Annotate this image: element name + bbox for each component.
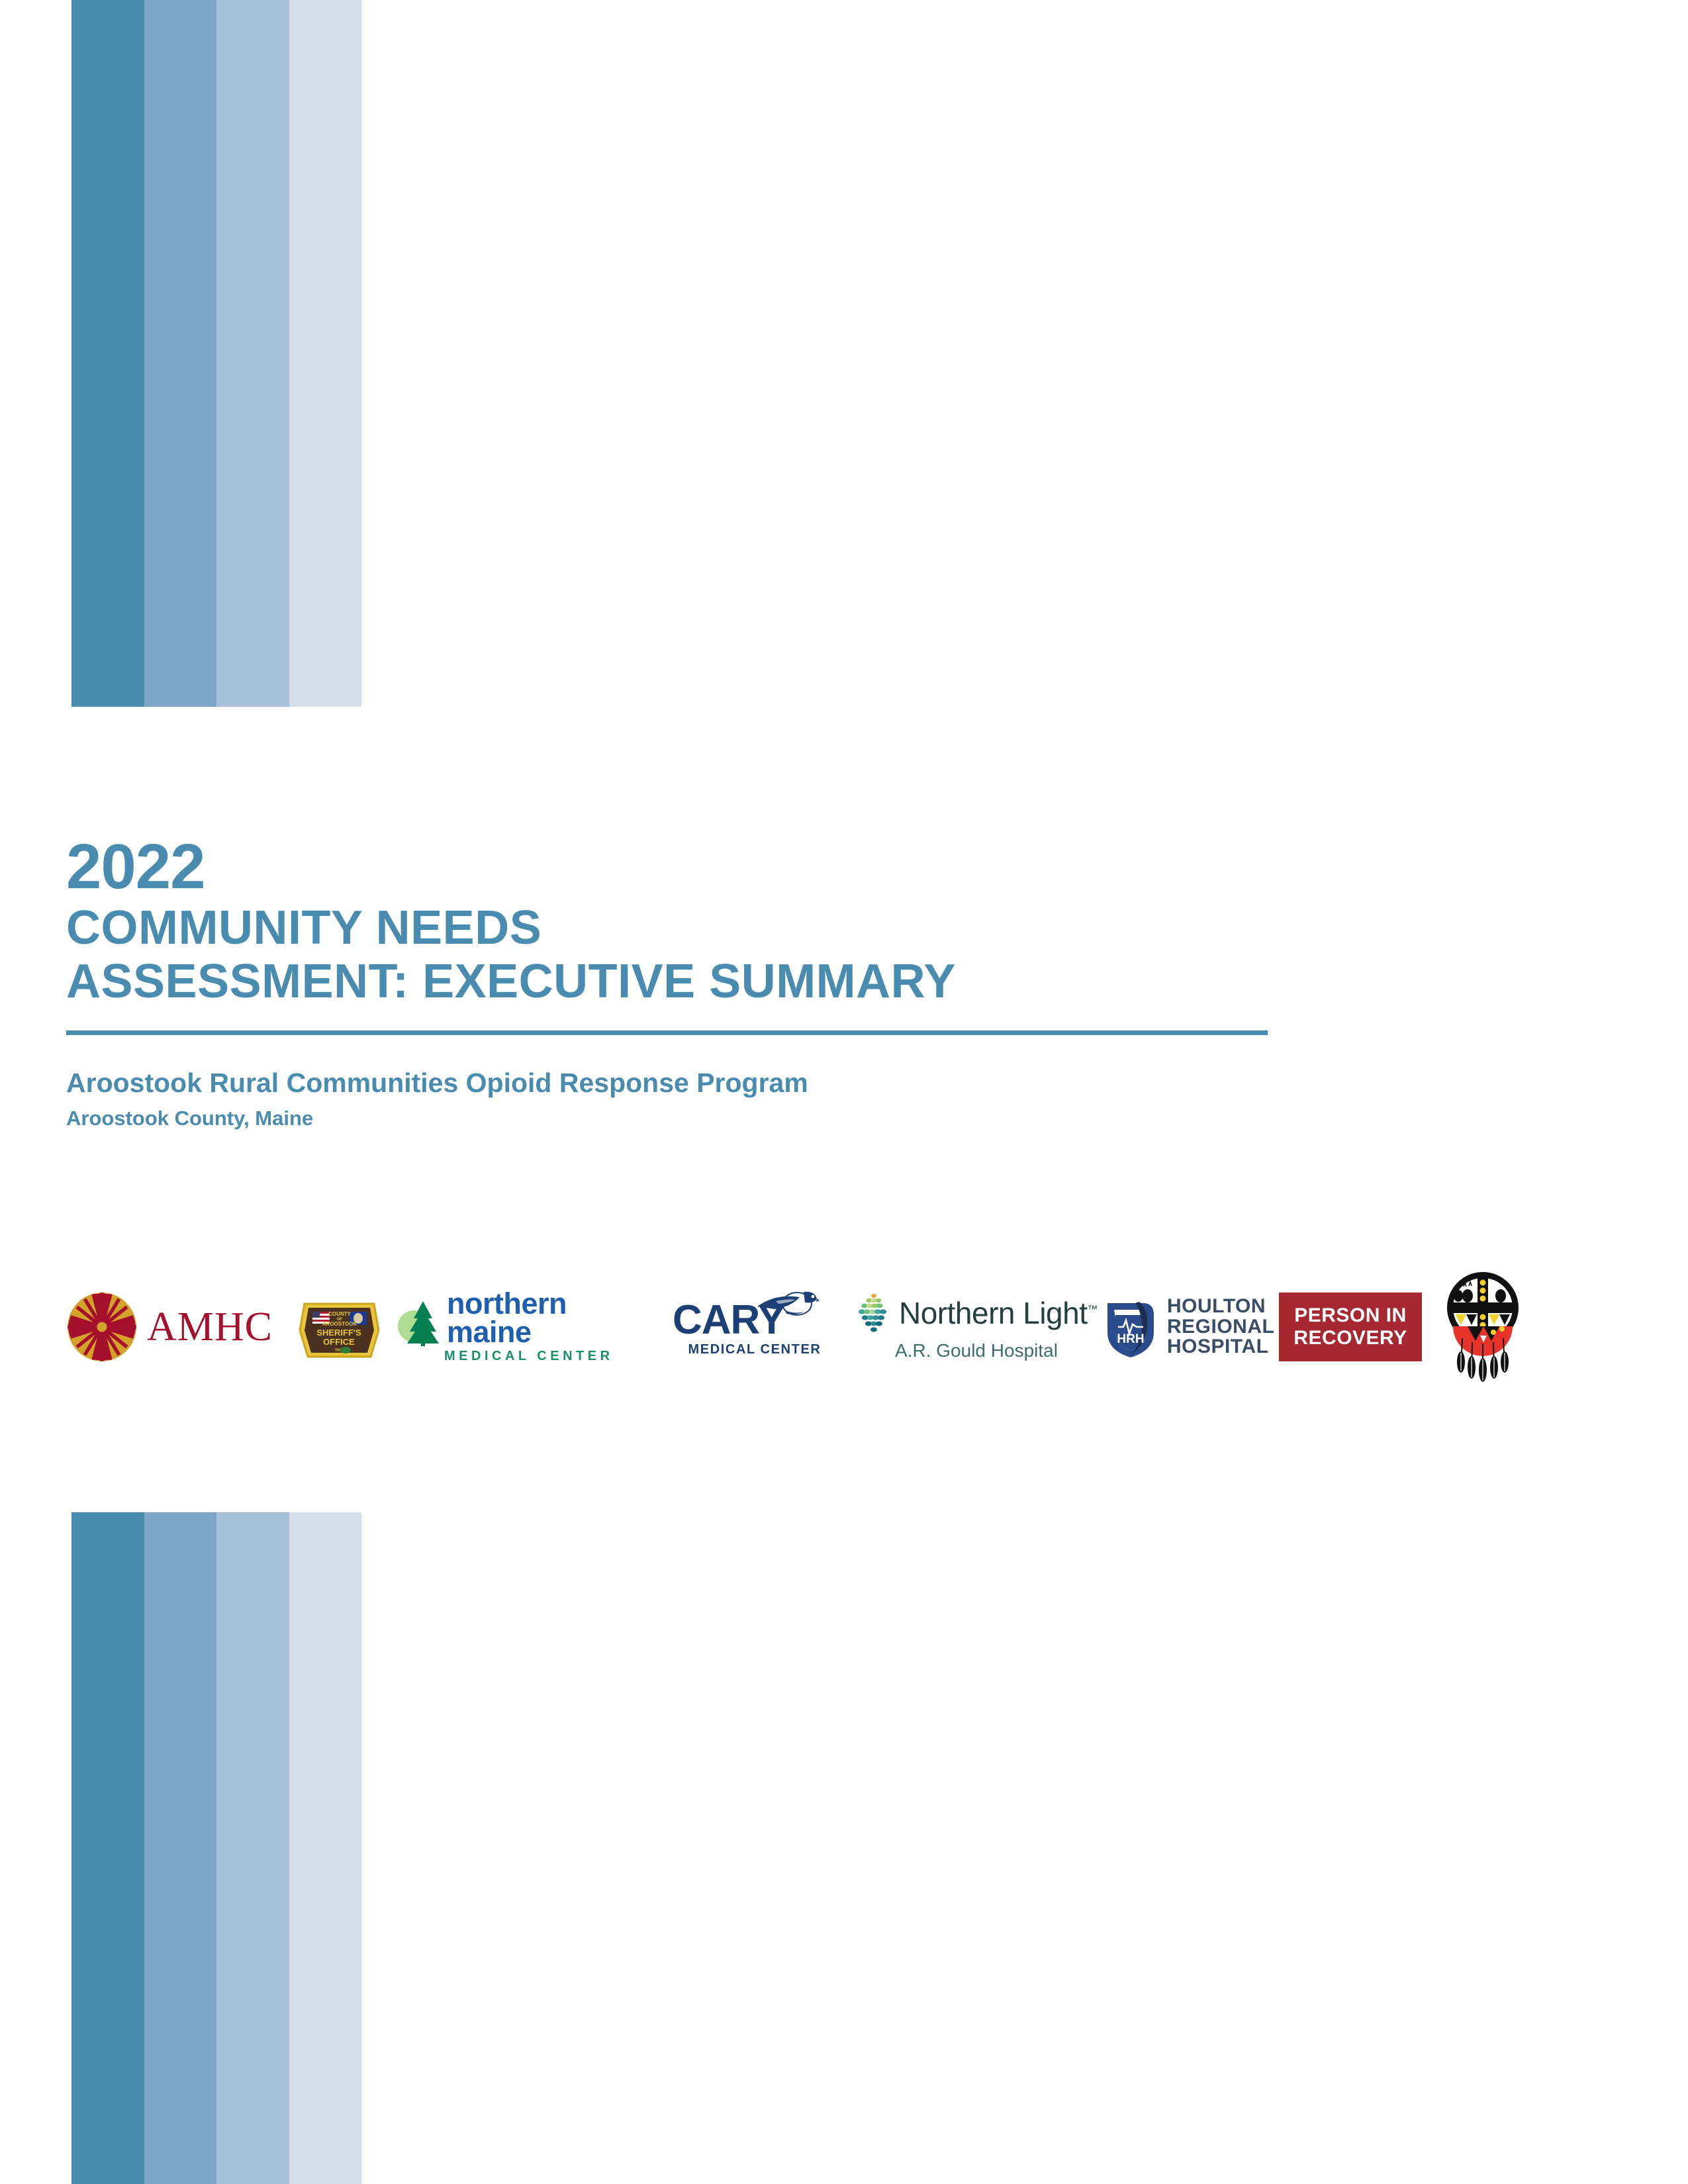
decorative-bar-7	[216, 1512, 289, 2184]
document-subtitle: Aroostook Rural Communities Opioid Respo…	[66, 1067, 1430, 1099]
logo-cary-medical-center: CARY MEDICAL CENTER	[659, 1271, 851, 1383]
cary-subtitle: MEDICAL CENTER	[688, 1342, 821, 1357]
decorative-bar-5	[71, 1512, 144, 2184]
houlton-line-2: REGIONAL	[1167, 1317, 1274, 1338]
logo-person-in-recovery: PERSON IN RECOVERY	[1268, 1271, 1433, 1383]
houlton-text-block: HOULTON REGIONAL HOSPITAL	[1167, 1297, 1274, 1357]
houlton-line-1: HOULTON	[1167, 1297, 1274, 1317]
document-year: 2022	[66, 835, 1430, 899]
pine-tree-icon	[394, 1298, 445, 1346]
partner-logo-row: AMHC COUNTY OF AROOSTOOK SHERIFF'S OFFIC…	[66, 1267, 1609, 1387]
chickadee-bird-icon	[756, 1287, 820, 1317]
decorative-bar-2	[144, 0, 217, 707]
sheriff-badge-icon: COUNTY OF AROOSTOOK SHERIFF'S OFFICE THE	[298, 1291, 381, 1363]
logo-northern-light: Northern Light™ A.R. Gould Hospital	[851, 1271, 1102, 1383]
northern-light-tree-icon	[855, 1293, 892, 1334]
decorative-bar-6	[144, 1512, 217, 2184]
houlton-line-3: HOSPITAL	[1167, 1337, 1274, 1357]
logo-northern-maine-medical-center: northern maine MEDICAL CENTER	[394, 1271, 659, 1383]
logo-tribal-medallion	[1433, 1271, 1532, 1383]
amhc-sunburst-icon	[66, 1291, 138, 1363]
decorative-bar-8	[289, 1512, 362, 2184]
decorative-bar-block-bottom	[71, 1512, 361, 2184]
amhc-wordmark: AMHC	[147, 1306, 273, 1347]
logo-houlton-regional-hospital: HRH HOULTON REGIONAL HOSPITAL	[1102, 1271, 1268, 1383]
decorative-bar-3	[216, 0, 289, 707]
northern-light-name: Northern Light™	[899, 1298, 1098, 1328]
hrh-shield-label: HRH	[1117, 1332, 1144, 1346]
svg-text:SHERIFF'S: SHERIFF'S	[316, 1328, 361, 1338]
svg-text:COUNTY: COUNTY	[328, 1311, 351, 1317]
decorative-bar-1	[71, 0, 144, 707]
trademark-icon: ™	[1088, 1304, 1098, 1316]
document-location: Aroostook County, Maine	[66, 1106, 1430, 1130]
document-title: COMMUNITY NEEDS ASSESSMENT: EXECUTIVE SU…	[66, 901, 1430, 1008]
northern-light-name-text: Northern Light	[899, 1296, 1088, 1330]
hrh-shield-icon: HRH	[1102, 1295, 1160, 1359]
cary-top-row: CARY	[673, 1297, 837, 1341]
title-divider-rule	[66, 1030, 1268, 1035]
northern-light-top-row: Northern Light™	[855, 1293, 1098, 1334]
logo-sheriff-office: COUNTY OF AROOSTOOK SHERIFF'S OFFICE THE	[285, 1271, 394, 1383]
northern-light-subtitle: A.R. Gould Hospital	[895, 1340, 1058, 1361]
decorative-bar-block-top	[71, 0, 361, 707]
nmmc-name: northern maine	[447, 1290, 659, 1347]
nmmc-subtitle: MEDICAL CENTER	[444, 1349, 614, 1364]
person-in-recovery-label: PERSON IN RECOVERY	[1279, 1293, 1421, 1361]
nmmc-top-row: northern maine	[394, 1290, 659, 1347]
title-area: 2022 COMMUNITY NEEDS ASSESSMENT: EXECUTI…	[66, 835, 1430, 1131]
svg-text:OFFICE: OFFICE	[323, 1337, 355, 1347]
decorative-bar-4	[289, 0, 362, 707]
logo-amhc: AMHC	[66, 1271, 285, 1383]
svg-text:AROOSTOOK: AROOSTOOK	[322, 1321, 357, 1327]
dreamcatcher-medallion-icon	[1444, 1269, 1522, 1385]
